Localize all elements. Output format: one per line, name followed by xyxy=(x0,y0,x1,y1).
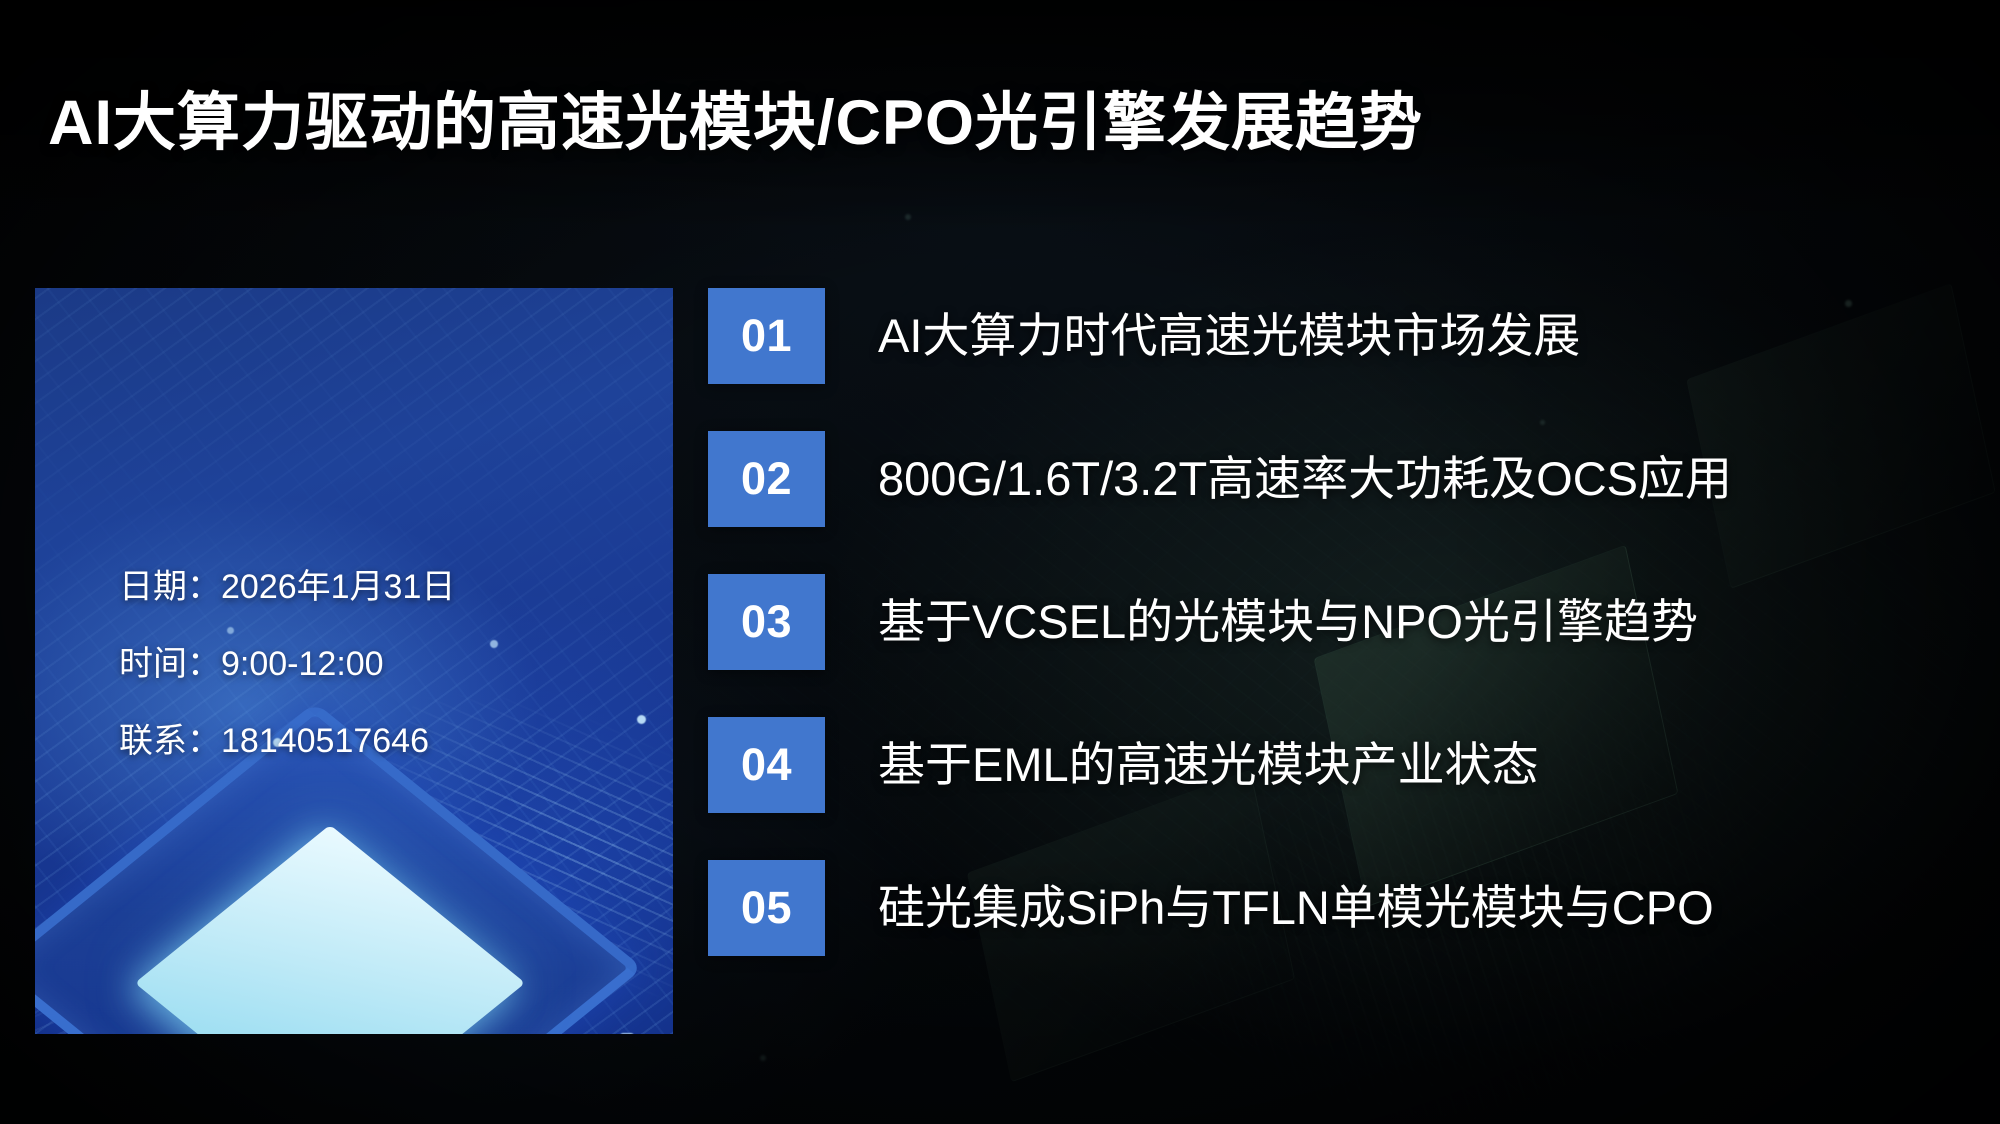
card-light-dot xyxy=(637,715,646,724)
agenda-number-badge: 04 xyxy=(708,717,825,813)
agenda-number-badge: 01 xyxy=(708,288,825,384)
agenda-item-02[interactable]: 02 800G/1.6T/3.2T高速率大功耗及OCS应用 xyxy=(708,431,1958,527)
agenda-item-label: AI大算力时代高速光模块市场发展 xyxy=(878,310,1580,362)
event-date: 日期：2026年1月31日 xyxy=(119,570,455,604)
agenda-list: 01 AI大算力时代高速光模块市场发展 02 800G/1.6T/3.2T高速率… xyxy=(708,288,1958,956)
agenda-item-05[interactable]: 05 硅光集成SiPh与TFLN单模光模块与CPO xyxy=(708,860,1958,956)
agenda-item-04[interactable]: 04 基于EML的高速光模块产业状态 xyxy=(708,717,1958,813)
card-light-dot xyxy=(620,1033,634,1034)
agenda-item-01[interactable]: 01 AI大算力时代高速光模块市场发展 xyxy=(708,288,1958,384)
card-light-dot xyxy=(490,640,498,648)
agenda-item-label: 硅光集成SiPh与TFLN单模光模块与CPO xyxy=(878,882,1714,934)
info-card: 日期：2026年1月31日 时间：9:00-12:00 联系：181405176… xyxy=(35,288,673,1034)
event-details: 日期：2026年1月31日 时间：9:00-12:00 联系：181405176… xyxy=(119,570,455,801)
agenda-item-label: 基于EML的高速光模块产业状态 xyxy=(878,739,1539,791)
agenda-item-03[interactable]: 03 基于VCSEL的光模块与NPO光引擎趋势 xyxy=(708,574,1958,670)
agenda-item-label: 基于VCSEL的光模块与NPO光引擎趋势 xyxy=(878,596,1698,648)
agenda-number-badge: 05 xyxy=(708,860,825,956)
event-contact: 联系：18140517646 xyxy=(119,724,455,758)
presentation-slide: AI大算力驱动的高速光模块/CPO光引擎发展趋势 日期：2026年1月31日 时… xyxy=(0,0,2000,1124)
event-time: 时间：9:00-12:00 xyxy=(119,647,455,681)
page-title: AI大算力驱动的高速光模块/CPO光引擎发展趋势 xyxy=(48,72,1423,163)
agenda-number-badge: 03 xyxy=(708,574,825,670)
agenda-number-badge: 02 xyxy=(708,431,825,527)
agenda-item-label: 800G/1.6T/3.2T高速率大功耗及OCS应用 xyxy=(878,453,1732,505)
